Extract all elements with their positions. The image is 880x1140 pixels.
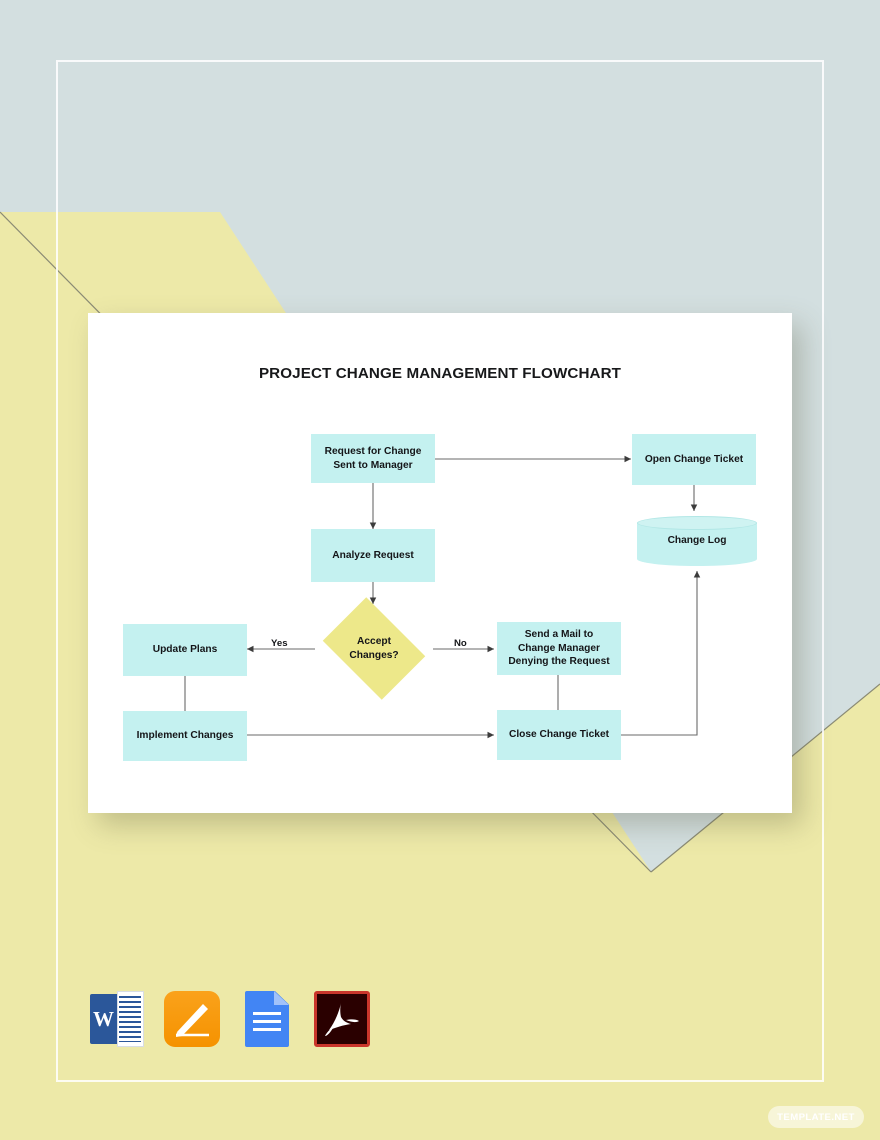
node-implement-changes-label: Implement Changes (137, 729, 234, 742)
word-text-lines (119, 996, 141, 1042)
watermark-label: TEMPLATE.NET (777, 1112, 855, 1123)
node-close-change-ticket-label: Close Change Ticket (509, 728, 609, 741)
adobe-pdf-icon[interactable] (313, 990, 371, 1048)
watermark-badge: TEMPLATE.NET (768, 1106, 864, 1128)
node-change-log-label: Change Log (668, 534, 727, 547)
pdf-acrobat-glyph (313, 990, 371, 1048)
cylinder-top-ellipse (637, 516, 757, 530)
word-letter-w: W (90, 994, 117, 1044)
node-accept-changes-decision[interactable]: Accept Changes? (315, 605, 433, 692)
edge-label-yes: Yes (271, 638, 288, 649)
node-send-a-mail[interactable]: Send a Mail to Change Manager Denying th… (497, 622, 621, 675)
node-send-mail-line2: Change Manager (508, 642, 609, 655)
node-change-log[interactable]: Change Log (637, 516, 757, 566)
node-open-change-ticket-label: Open Change Ticket (645, 453, 743, 466)
node-accept-line1: Accept (349, 635, 398, 648)
apple-pages-icon[interactable] (163, 990, 221, 1048)
node-send-mail-line3: Denying the Request (508, 655, 609, 668)
node-update-plans[interactable]: Update Plans (123, 624, 247, 676)
node-send-mail-line1: Send a Mail to (508, 628, 609, 641)
file-format-icons: W (88, 990, 371, 1048)
node-close-change-ticket[interactable]: Close Change Ticket (497, 710, 621, 760)
node-accept-line2: Changes? (349, 649, 398, 662)
gdocs-text-lines (253, 1012, 281, 1036)
node-implement-changes[interactable]: Implement Changes (123, 711, 247, 761)
node-request-line2: Sent to Manager (325, 459, 422, 472)
edge-label-no: No (454, 638, 467, 649)
document-card: PROJECT CHANGE MANAGEMENT FLOWCHART (88, 313, 792, 813)
node-update-plans-label: Update Plans (153, 643, 218, 656)
google-docs-icon[interactable] (238, 990, 296, 1048)
node-analyze-request[interactable]: Analyze Request (311, 529, 435, 582)
flowchart-canvas: Request for Change Sent to Manager Open … (88, 313, 792, 813)
pages-pen-glyph (163, 990, 221, 1048)
node-request-for-change[interactable]: Request for Change Sent to Manager (311, 434, 435, 483)
node-analyze-request-label: Analyze Request (332, 549, 414, 562)
node-request-line1: Request for Change (325, 445, 422, 458)
ms-word-icon[interactable]: W (88, 990, 146, 1048)
node-open-change-ticket[interactable]: Open Change Ticket (632, 434, 756, 485)
cylinder-bottom-ellipse (637, 552, 757, 566)
